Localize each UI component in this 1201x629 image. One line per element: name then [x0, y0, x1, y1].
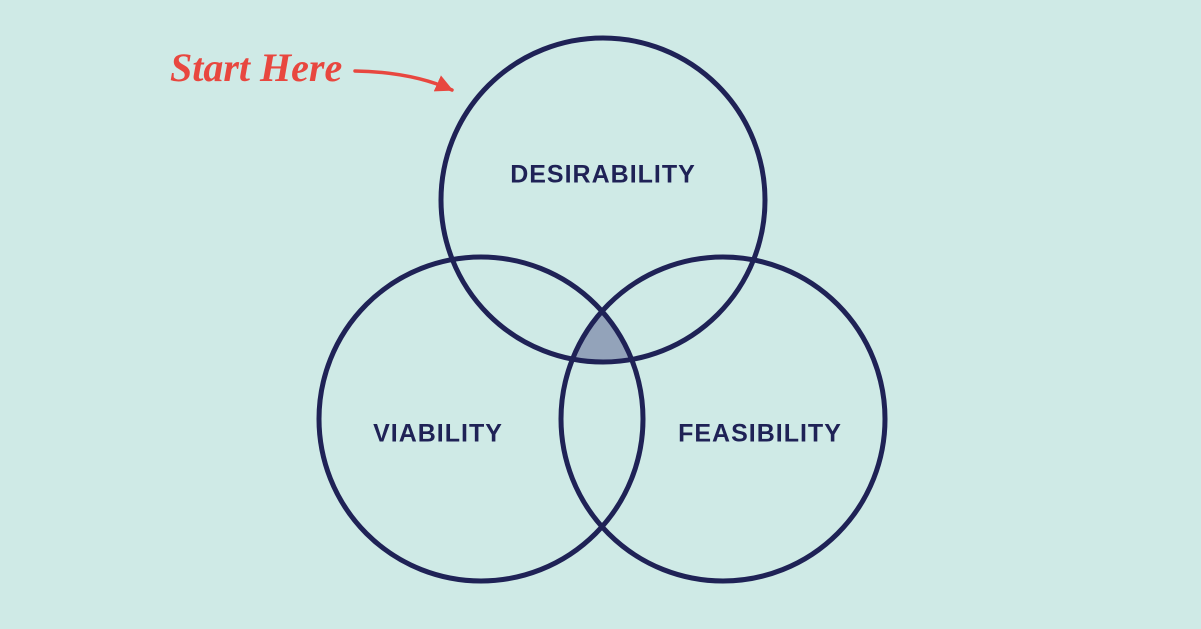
label-feasibility: FEASIBILITY: [678, 420, 842, 448]
label-desirability: DESIRABILITY: [510, 161, 696, 189]
diagram-canvas: DESIRABILITY VIABILITY FEASIBILITY Start…: [0, 0, 1201, 629]
label-viability: VIABILITY: [373, 420, 503, 448]
venn-diagram-svg: DESIRABILITY VIABILITY FEASIBILITY Start…: [0, 0, 1201, 629]
start-here-label: Start Here: [170, 45, 342, 90]
